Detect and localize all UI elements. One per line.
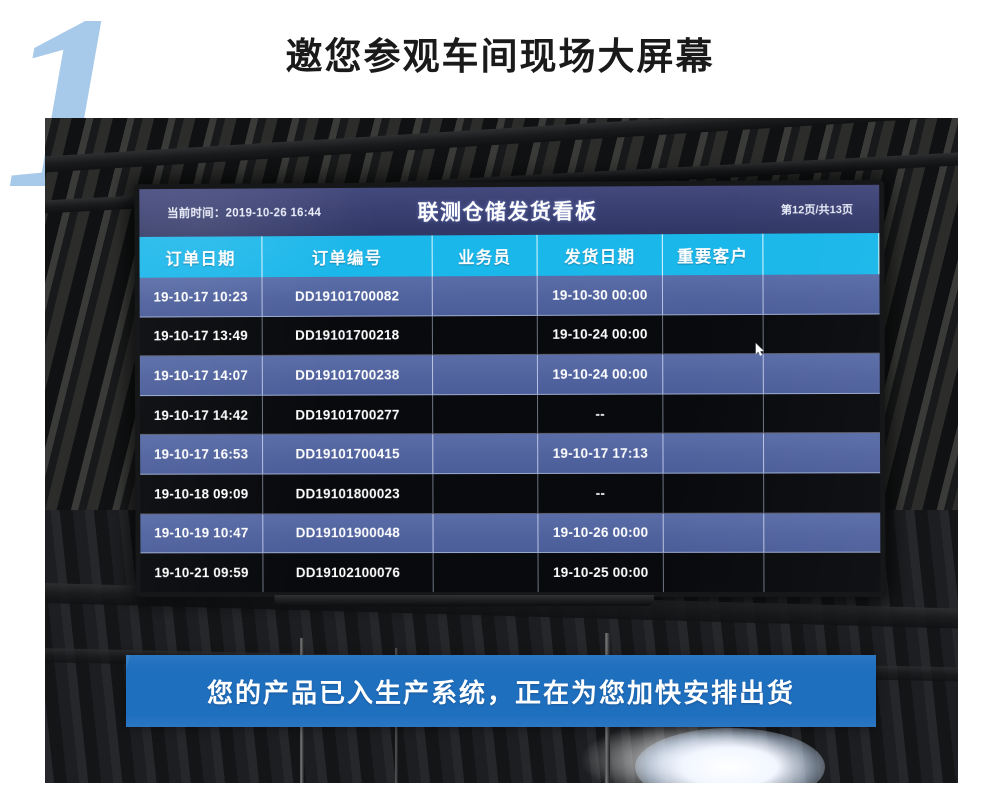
promo-banner-text: 您的产品已入生产系统，正在为您加快安排出货 xyxy=(207,673,795,710)
cell-extra xyxy=(764,473,880,512)
cell-ship-date: 19-10-24 00:00 xyxy=(538,355,663,394)
cell-key-customer xyxy=(663,354,764,393)
table-row: 19-10-18 09:09 DD19101800023 -- xyxy=(140,473,880,514)
table-row: 19-10-17 10:23 DD19101700082 19-10-30 00… xyxy=(140,274,880,317)
promo-banner: 您的产品已入生产系统，正在为您加快安排出货 xyxy=(126,655,876,727)
column-header-key-customer: 重要客户 xyxy=(663,234,764,276)
cell-order-date: 19-10-17 14:42 xyxy=(140,396,263,435)
cell-key-customer xyxy=(663,315,764,354)
cell-extra xyxy=(764,314,880,353)
cell-order-no: DD19101700082 xyxy=(263,276,433,315)
cell-extra xyxy=(764,513,880,552)
cell-extra xyxy=(763,274,879,313)
table-row: 19-10-21 09:59 DD19102100076 19-10-25 00… xyxy=(140,553,880,592)
cell-ship-date: -- xyxy=(538,474,663,513)
column-header-order-no: 订单编号 xyxy=(262,235,432,277)
cell-salesperson xyxy=(433,514,538,553)
cell-ship-date: 19-10-26 00:00 xyxy=(538,513,663,552)
table-row: 19-10-17 13:49 DD19101700218 19-10-24 00… xyxy=(140,314,880,356)
cell-order-no: DD19102100076 xyxy=(263,553,433,592)
cell-order-no: DD19101700277 xyxy=(263,395,433,434)
cell-order-date: 19-10-17 16:53 xyxy=(140,435,263,474)
cell-salesperson xyxy=(434,553,539,592)
cell-ship-date: 19-10-24 00:00 xyxy=(538,315,663,354)
cell-key-customer xyxy=(664,553,765,592)
cell-order-date: 19-10-17 14:07 xyxy=(140,356,263,395)
shipment-table: 订单日期 订单编号 业务员 发货日期 重要客户 19-10-17 10:23 D… xyxy=(139,233,880,592)
table-row: 19-10-17 14:07 DD19101700238 19-10-24 00… xyxy=(140,354,880,396)
table-row: 19-10-17 16:53 DD19101700415 19-10-17 17… xyxy=(140,433,880,474)
column-header-extra xyxy=(763,233,879,275)
cell-order-no: DD19101900048 xyxy=(263,514,433,553)
cell-ship-date: -- xyxy=(538,394,663,433)
column-header-salesperson: 业务员 xyxy=(433,235,538,277)
page-title: 邀您参观车间现场大屏幕 xyxy=(0,26,1000,80)
cell-order-date: 19-10-17 10:23 xyxy=(140,277,263,316)
table-header-row: 订单日期 订单编号 业务员 发货日期 重要客户 xyxy=(139,233,879,278)
tv-stand xyxy=(274,595,654,606)
cell-extra xyxy=(764,354,880,393)
wall-mounted-tv: 当前时间：2019-10-26 16:44 联测仓储发货看板 第12页/共13页… xyxy=(134,180,885,597)
cell-salesperson xyxy=(433,355,538,394)
tv-screen: 当前时间：2019-10-26 16:44 联测仓储发货看板 第12页/共13页… xyxy=(139,185,880,592)
cell-order-no: DD19101700415 xyxy=(263,435,433,474)
warehouse-dashboard: 当前时间：2019-10-26 16:44 联测仓储发货看板 第12页/共13页… xyxy=(139,185,880,592)
cell-salesperson xyxy=(433,434,538,473)
table-row: 19-10-17 14:42 DD19101700277 -- xyxy=(140,394,880,436)
cell-ship-date: 19-10-25 00:00 xyxy=(539,553,664,592)
cell-extra xyxy=(764,433,880,472)
cell-order-date: 19-10-17 13:49 xyxy=(140,317,263,356)
cell-salesperson xyxy=(433,315,538,354)
cell-salesperson xyxy=(433,395,538,434)
cell-key-customer xyxy=(663,394,764,433)
cell-ship-date: 19-10-17 17:13 xyxy=(538,434,663,473)
page-indicator: 第12页/共13页 xyxy=(781,201,853,217)
cell-key-customer xyxy=(664,513,765,552)
cell-order-no: DD19101700238 xyxy=(263,355,433,394)
cell-order-no: DD19101700218 xyxy=(263,316,433,355)
cell-extra xyxy=(764,394,880,433)
mouse-cursor-icon xyxy=(756,343,765,356)
column-header-ship-date: 发货日期 xyxy=(538,234,663,276)
cell-order-no: DD19101800023 xyxy=(263,474,433,513)
cell-salesperson xyxy=(433,276,538,315)
cell-key-customer xyxy=(664,473,765,512)
cell-order-date: 19-10-19 10:47 xyxy=(140,514,263,553)
cell-key-customer xyxy=(663,275,764,314)
cell-salesperson xyxy=(433,474,538,513)
cell-order-date: 19-10-18 09:09 xyxy=(140,474,263,513)
column-header-order-date: 订单日期 xyxy=(139,236,262,277)
cell-order-date: 19-10-21 09:59 xyxy=(140,553,263,592)
cell-extra xyxy=(764,553,880,592)
table-row: 19-10-19 10:47 DD19101900048 19-10-26 00… xyxy=(140,513,880,553)
current-time-label: 当前时间：2019-10-26 16:44 xyxy=(167,204,321,221)
cell-key-customer xyxy=(663,434,764,473)
cell-ship-date: 19-10-30 00:00 xyxy=(538,275,663,314)
dashboard-header: 当前时间：2019-10-26 16:44 联测仓储发货看板 第12页/共13页 xyxy=(139,185,879,237)
